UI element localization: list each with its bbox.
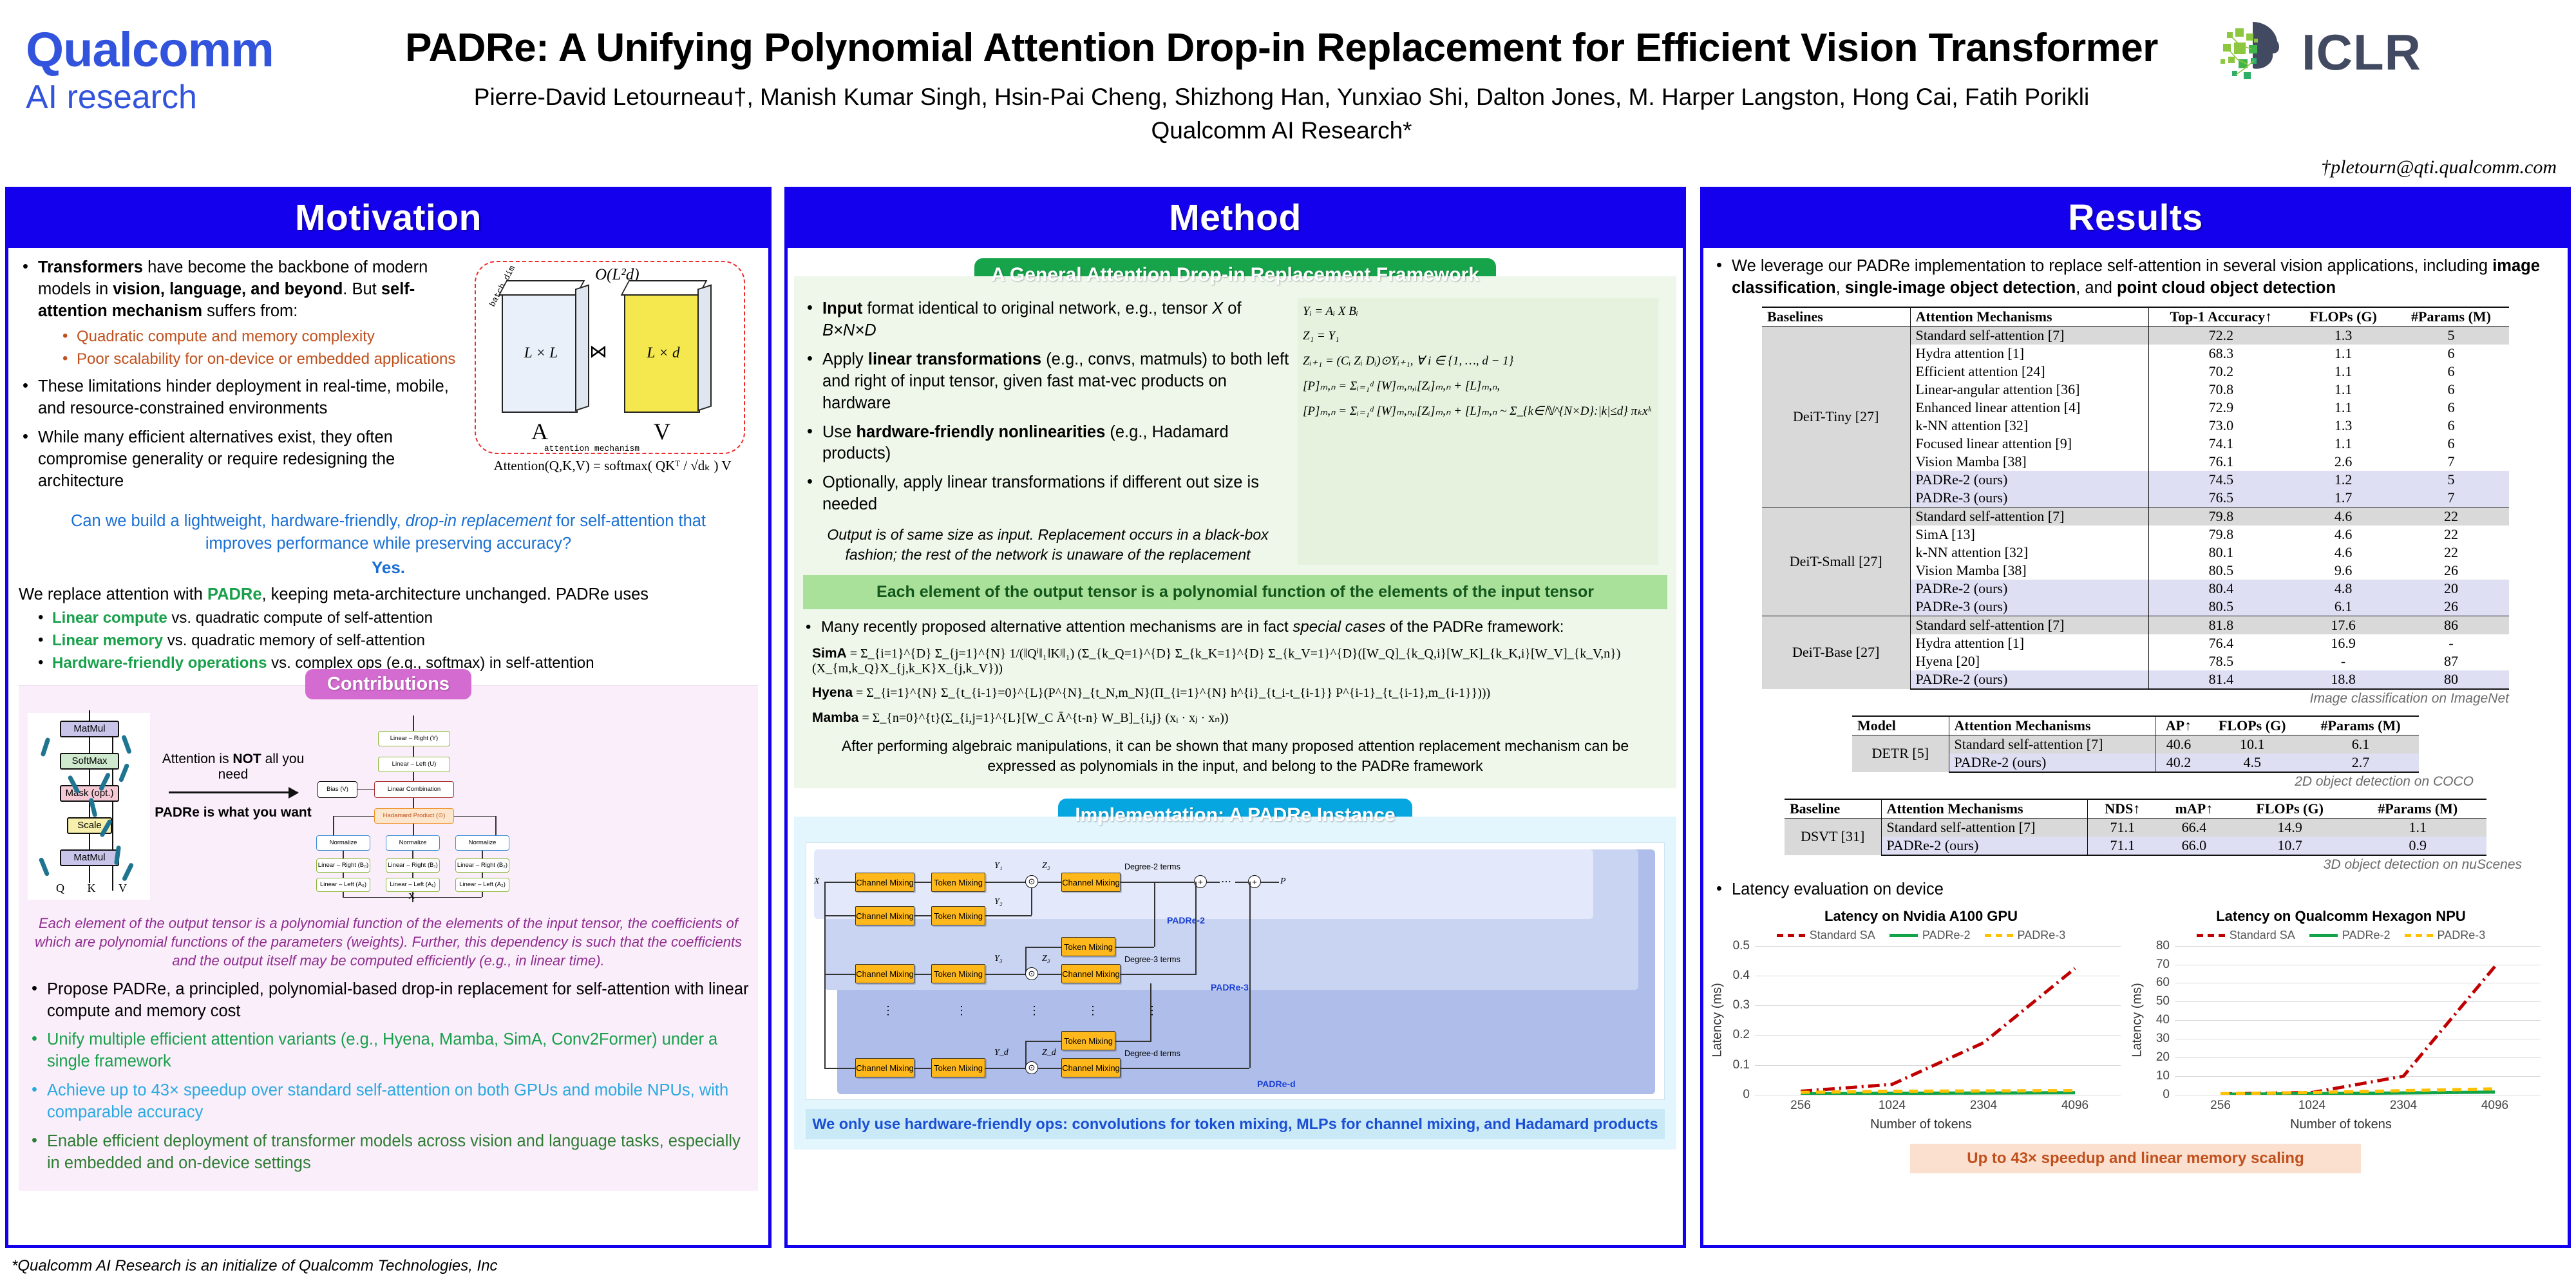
sima-label: SimA <box>812 646 847 661</box>
strike-mark <box>121 734 132 754</box>
y-axis-tick: 0.5 <box>1733 939 1750 953</box>
vertical-ellipsis: ⋮ <box>1087 1004 1099 1018</box>
chart-a100-legend: Standard SA PADRe-2 PADRe-3 <box>1712 929 2130 942</box>
list-item: Poor scalability for on-device or embedd… <box>60 349 469 369</box>
normalize-block-1: Normalize <box>316 835 370 851</box>
strike-mark <box>122 862 134 882</box>
chart-series-layer <box>1755 946 2121 1095</box>
diagram-input-label: X <box>814 876 820 887</box>
channel-mixing-block-2: Channel Mixing <box>1061 873 1121 892</box>
latency-charts: Latency on Nvidia A100 GPU Standard SA P… <box>1712 908 2559 1132</box>
vertical-ellipsis: ⋮ <box>882 1004 894 1018</box>
y-axis-tick: 40 <box>2156 1013 2170 1027</box>
gridline <box>2175 1095 2541 1095</box>
transition-arrow-icon <box>169 791 298 793</box>
token-mixing-block-3: Token Mixing <box>1061 937 1115 956</box>
ellipsis-label: ⋯ <box>1221 875 1231 888</box>
implementation-panel: X Channel Mixing Token Mixing Y₁ ⊙ Z₂ Ch… <box>794 817 1676 1150</box>
padre-2-label: PADRe-2 <box>1167 915 1205 925</box>
degree-d-label: Degree-d terms <box>1124 1049 1180 1058</box>
y-axis-tick: 0.4 <box>1733 969 1750 983</box>
column-method: Method A General Attention Drop-in Repla… <box>784 187 1686 1248</box>
table-header-row: Baselines Attention Mechanisms Top-1 Acc… <box>1762 307 2509 327</box>
title-block: PADRe: A Unifying Polynomial Attention D… <box>386 26 2177 144</box>
replace-intro: We replace attention with PADRe, keeping… <box>19 585 758 604</box>
channel-mixing-block-7: Channel Mixing <box>1061 1058 1121 1077</box>
token-mixing-block-1: Token Mixing <box>931 873 985 892</box>
poster-root: Qualcomm AI research PADRe: A Unifying P… <box>0 0 2576 1288</box>
th-ap: AP↑ <box>2155 716 2202 735</box>
list-item: Transformers have become the backbone of… <box>19 257 469 369</box>
hyena-formula-row: Hyena = Σ_{i=1}^{N} Σ_{t_{i-1}=0}^{L}(P^… <box>812 685 1667 701</box>
linear-left-a0-block: Linear – Left (A₀) <box>316 878 370 892</box>
detr-table-caption: 2D object detection on COCO <box>1797 774 2474 790</box>
mamba-label: Mamba <box>812 710 858 725</box>
channel-mixing-block-6: Channel Mixing <box>855 1058 914 1077</box>
framework-panel: Input format identical to original netwo… <box>794 276 1676 788</box>
baseline-deit-base: DeiT-Base [27] <box>1762 616 1910 689</box>
token-mixing-block-2: Token Mixing <box>931 906 985 925</box>
legend-swatch-standard-sa <box>1777 934 1805 937</box>
list-item: We leverage our PADRe implementation to … <box>1712 256 2559 299</box>
table-header-row: Model Attention Mechanisms AP↑ FLOPs (G)… <box>1852 716 2419 735</box>
matrix-a-cube: L × L <box>502 293 578 413</box>
legend-item-padre2: PADRe-2 <box>1889 929 1971 942</box>
chart-a100-ylabel: Latency (ms) <box>1710 983 1725 1057</box>
v-input-label: V <box>118 882 127 895</box>
chart-a100: Latency on Nvidia A100 GPU Standard SA P… <box>1712 908 2130 1132</box>
channel-mixing-block-5: Channel Mixing <box>1061 964 1121 983</box>
y-axis-tick: 20 <box>2156 1050 2170 1065</box>
chart-a100-title: Latency on Nvidia A100 GPU <box>1712 908 2130 925</box>
black-box-note: Output is of same size as input. Replace… <box>816 525 1280 565</box>
chart-hexagon-legend: Standard SA PADRe-2 PADRe-3 <box>2132 929 2550 942</box>
th-params: #Params (M) <box>2393 307 2509 327</box>
contribution-bullets: Propose PADRe, a principled, polynomial-… <box>28 979 749 1175</box>
token-mixing-block-5: Token Mixing <box>1061 1031 1115 1050</box>
equation-zi: Zᵢ₊₁ = (Cᵢ Zᵢ Dᵢ)⊙Yᵢ₊₁, ∀ i ∈ {1, …, d −… <box>1303 354 1653 368</box>
legend-item-padre3: PADRe-3 <box>2405 929 2486 942</box>
matrix-a-dims: L × L <box>503 345 579 361</box>
chart-hexagon-xlabel: Number of tokens <box>2132 1117 2550 1132</box>
method-heading: Method <box>788 190 1683 248</box>
attention-not-needed-text: Attention is NOT all you need <box>153 752 314 782</box>
y-axis-tick: 0 <box>2163 1088 2170 1102</box>
y-axis-tick: 0.1 <box>1733 1058 1750 1072</box>
padre-property-list: Linear compute vs. quadratic compute of … <box>35 608 758 674</box>
bias-v-block: Bias (V) <box>317 781 357 798</box>
research-question-emphasis: drop-in replacement <box>406 512 552 530</box>
table-header-row: Baseline Attention Mechanisms NDS↑ mAP↑ … <box>1785 799 2486 819</box>
table-row: DeiT-Base [27] Standard self-attention [… <box>1762 616 2509 634</box>
baseline-detr: DETR [5] <box>1852 735 1949 772</box>
attention-equation: Attention(Q,K,V) = softmax( QKᵀ / √dₖ ) … <box>476 458 749 474</box>
degree-3-label: Degree-3 terms <box>1124 955 1180 964</box>
list-item: While many efficient alternatives exist,… <box>19 427 469 493</box>
legend-item-standard-sa: Standard SA <box>1777 929 1875 942</box>
table-row: DSVT [31] Standard self-attention [7] 71… <box>1785 818 2486 837</box>
th-flops: FLOPs (G) <box>2202 716 2302 735</box>
qualcomm-sublabel: AI research <box>26 79 386 117</box>
method-body: A General Attention Drop-in Replacement … <box>788 248 1683 1155</box>
equation-y: Yᵢ = Aᵢ X Bᵢ <box>1303 305 1653 319</box>
normalize-block-3: Normalize <box>455 835 509 851</box>
legend-item-padre3: PADRe-3 <box>1985 929 2066 942</box>
motivation-sub-bullets: Quadratic compute and memory complexity … <box>60 327 469 369</box>
padre-wanted-text: PADRe is what you want <box>153 805 314 820</box>
softmax-node: SoftMax <box>60 753 119 770</box>
dsvt-results-table: Baseline Attention Mechanisms NDS↑ mAP↑ … <box>1785 799 2486 856</box>
y-axis-tick: 60 <box>2156 976 2170 990</box>
list-item: Use hardware-friendly nonlinearities (e.… <box>803 422 1293 466</box>
equation-p2: [P]ₘ,ₙ = Σᵢ₌₁ᵈ [W]ₘ,ₙ,ᵢ[Zᵢ]ₘ,ₙ + [L]ₘ,ₙ … <box>1303 404 1653 419</box>
baseline-deit-tiny: DeiT-Tiny [27] <box>1762 326 1910 507</box>
polynomial-callout: Each element of the output tensor is a p… <box>803 575 1667 609</box>
th-baseline: Baseline <box>1785 799 1881 819</box>
table-row: DeiT-Small [27] Standard self-attention … <box>1762 507 2509 526</box>
padre-instance-diagram: X Channel Mixing Token Mixing Y₁ ⊙ Z₂ Ch… <box>806 842 1665 1100</box>
polynomial-note: Each element of the output tensor is a p… <box>34 914 743 970</box>
equation-p1: [P]ₘ,ₙ = Σᵢ₌₁ᵈ [W]ₘ,ₙ,ᵢ[Zᵢ]ₘ,ₙ + [L]ₘ,ₙ, <box>1303 379 1653 393</box>
iclr-brain-icon <box>2215 17 2293 88</box>
motivation-bullets: Transformers have become the backbone of… <box>19 257 469 493</box>
y-axis-tick: 80 <box>2156 939 2170 953</box>
poster-header: Qualcomm AI research PADRe: A Unifying P… <box>0 0 2576 179</box>
attention-figure-frame: O(L²d) batch dim L × L ⋈ L × d A V atten… <box>475 261 745 454</box>
linear-left-u-block: Linear – Left (U) <box>378 757 450 772</box>
legend-swatch-padre3 <box>2405 934 2433 937</box>
matmul-bottom-node: MatMul <box>60 849 119 866</box>
list-item: These limitations hinder deployment in r… <box>19 376 469 420</box>
chart-a100-plot: Latency (ms) 00.10.20.30.40.525610242304… <box>1755 946 2121 1095</box>
x-axis-tick: 4096 <box>2061 1099 2088 1113</box>
chart-a100-xlabel: Number of tokens <box>1712 1117 2130 1132</box>
chart-hexagon-title: Latency on Qualcomm Hexagon NPU <box>2132 908 2550 925</box>
speedup-callout: Up to 43× speedup and linear memory scal… <box>1910 1144 2361 1173</box>
hadamard-product-block: Hadamard Product (⊙) <box>374 808 454 824</box>
list-item: Quadratic compute and memory complexity <box>60 327 469 346</box>
self-attention-diagram: MatMul SoftMax Mask (opt.) Scale MatMul … <box>28 713 150 900</box>
chart-hexagon-ylabel: Latency (ms) <box>2130 983 2145 1057</box>
strike-mark <box>39 857 50 876</box>
hyena-formula: = Σ_{i=1}^{N} Σ_{t_{i-1}=0}^{L}(P^{N}_{t… <box>856 686 1490 700</box>
chart-series-layer <box>2175 946 2541 1095</box>
y-axis-tick: 30 <box>2156 1032 2170 1046</box>
strike-mark <box>118 762 130 782</box>
baseline-deit-small: DeiT-Small [27] <box>1762 507 1910 616</box>
zd-label: Z_d <box>1042 1048 1056 1058</box>
x-axis-tick: 2304 <box>2390 1099 2417 1113</box>
matmul-top-node: MatMul <box>60 721 119 737</box>
legend-swatch-padre3 <box>1985 934 2013 937</box>
results-intro-list: We leverage our PADRe implementation to … <box>1712 256 2559 299</box>
vertical-ellipsis: ⋮ <box>956 1004 967 1018</box>
qkv-inputs: Q K V <box>56 882 127 895</box>
legend-swatch-standard-sa <box>2197 934 2225 937</box>
contributions-badge: Contributions <box>305 669 471 699</box>
padre-d-label: PADRe-d <box>1257 1079 1296 1089</box>
motivation-body: Transformers have become the backbone of… <box>8 248 768 1200</box>
column-results: Results We leverage our PADRe implementa… <box>1700 187 2571 1248</box>
linear-left-a2-block: Linear – Left (A₂) <box>455 878 509 892</box>
y-axis-tick: 0.3 <box>1733 998 1750 1012</box>
poster-footnote: *Qualcomm AI Research is an initialize o… <box>12 1257 498 1275</box>
th-map: mAP↑ <box>2157 799 2231 819</box>
linear-combination-block: Linear Combination <box>374 781 454 798</box>
legend-item-padre2: PADRe-2 <box>2309 929 2391 942</box>
list-item: Apply linear transformations (e.g., conv… <box>803 349 1293 415</box>
list-item: Linear memory vs. quadratic memory of se… <box>35 630 758 650</box>
hardware-friendly-callout: We only use hardware-friendly ops: convo… <box>806 1109 1665 1139</box>
series-standard-sa <box>1801 968 2075 1091</box>
special-cases-line: Many recently proposed alternative atten… <box>803 618 1667 636</box>
mamba-formula-row: Mamba = Σ_{n=0}^{t}(Σ_{i,j=1}^{L}[W_C Ā^… <box>812 710 1667 726</box>
y-axis-tick: 0.2 <box>1733 1028 1750 1042</box>
motivation-heading: Motivation <box>8 190 768 248</box>
series-padre-2 <box>2221 1092 2495 1094</box>
series-padre-2 <box>1801 1093 2075 1094</box>
iclr-wordmark: ICLR <box>2302 23 2421 82</box>
x-axis-tick: 2304 <box>1970 1099 1997 1113</box>
qualcomm-logo: Qualcomm AI research <box>26 26 386 117</box>
vertical-ellipsis: ⋮ <box>1028 1004 1040 1018</box>
chart-hexagon-plot: Latency (ms) 010203040506070802561024230… <box>2175 946 2541 1095</box>
contributions-section: Contributions MatMul SoftMax Mask (opt.) <box>19 685 758 1191</box>
x-axis-tick: 1024 <box>2298 1099 2325 1113</box>
y1-label: Y₁ <box>994 861 1003 871</box>
gridline <box>1755 1095 2121 1095</box>
imagenet-table-caption: Image classification on ImageNet <box>1762 691 2509 706</box>
baseline-dsvt: DSVT [31] <box>1785 818 1881 855</box>
author-list: Pierre-David Letourneau†, Manish Kumar S… <box>386 82 2177 113</box>
multiply-icon: ⋈ <box>589 341 607 362</box>
algebraic-note: After performing algebraic manipulations… <box>815 736 1656 776</box>
token-mixing-block-4: Token Mixing <box>931 964 985 983</box>
th-params: #Params (M) <box>2349 799 2486 819</box>
results-heading: Results <box>1703 190 2568 248</box>
q-input-label: Q <box>56 882 64 895</box>
list-item: Enable efficient deployment of transform… <box>28 1131 749 1175</box>
list-item: Achieve up to 43× speedup over standard … <box>28 1080 749 1124</box>
th-attention-mechanisms: Attention Mechanisms <box>1949 716 2155 735</box>
equation-z1: Z₁ = Y₁ <box>1303 329 1653 343</box>
k-input-label: K <box>88 882 96 895</box>
comparison-captions: Attention is NOT all you need PADRe is w… <box>153 713 314 826</box>
list-item: Optionally, apply linear transformations… <box>803 472 1293 516</box>
th-top1: Top-1 Accuracy↑ <box>2148 307 2293 327</box>
list-item: Propose PADRe, a principled, polynomial-… <box>28 979 749 1023</box>
diagram-output-label: P <box>1280 876 1286 887</box>
latency-heading-list: Latency evaluation on device <box>1712 879 2559 901</box>
legend-item-standard-sa: Standard SA <box>2197 929 2295 942</box>
padre-block-diagram: Linear – Right (Y) Linear – Left (U) Bia… <box>316 713 749 904</box>
th-params: #Params (M) <box>2302 716 2419 735</box>
simа-formula-row: SimA = Σ_{i=1}^{D} Σ_{j=1}^{N} 1/(‖Qⁱ‖₁‖… <box>812 645 1667 676</box>
imagenet-results-table: Baselines Attention Mechanisms Top-1 Acc… <box>1762 307 2509 690</box>
affiliation: Qualcomm AI Research* <box>386 117 2177 144</box>
legend-swatch-padre2 <box>1889 934 1918 937</box>
th-nds: NDS↑ <box>2087 799 2157 819</box>
th-flops: FLOPs (G) <box>2231 799 2349 819</box>
table-row: DeiT-Tiny [27] Standard self-attention [… <box>1762 326 2509 345</box>
padre-input-label: X <box>408 892 415 902</box>
th-attention-mechanisms: Attention Mechanisms <box>1910 307 2148 327</box>
th-attention-mechanisms: Attention Mechanisms <box>1881 799 2087 819</box>
list-item: Unify multiple efficient attention varia… <box>28 1029 749 1073</box>
dsvt-table-caption: 3D object detection on nuScenes <box>1749 857 2522 873</box>
y-axis-tick: 50 <box>2156 994 2170 1009</box>
results-body: We leverage our PADRe implementation to … <box>1703 248 2568 1181</box>
x-axis-tick: 4096 <box>2481 1099 2508 1113</box>
z3-label: Z₃ <box>1042 954 1050 964</box>
normalize-block-2: Normalize <box>386 835 440 851</box>
th-flops: FLOPs (G) <box>2293 307 2393 327</box>
linear-left-a1-block: Linear – Left (A₁) <box>386 878 440 892</box>
detr-results-table: Model Attention Mechanisms AP↑ FLOPs (G)… <box>1852 715 2419 773</box>
yd-label: Y_d <box>994 1048 1009 1058</box>
architecture-comparison-figure: MatMul SoftMax Mask (opt.) Scale MatMul … <box>28 713 749 905</box>
padre-3-label: PADRe-3 <box>1211 982 1249 992</box>
th-baselines: Baselines <box>1762 307 1910 327</box>
linear-right-b1-block: Linear – Right (B₁) <box>386 858 440 873</box>
mamba-formula: = Σ_{n=0}^{t}(Σ_{i,j=1}^{L}[W_C Ā^{t-n} … <box>862 711 1228 725</box>
degree-2-label: Degree-2 terms <box>1124 862 1180 871</box>
strike-mark <box>114 845 121 865</box>
linear-right-b0-block: Linear – Right (B₀) <box>316 858 370 873</box>
matrix-v-cube: L × d <box>624 293 700 413</box>
table-row: DETR [5] Standard self-attention [7] 40.… <box>1852 735 2419 753</box>
matrix-v-dims: L × d <box>625 345 701 361</box>
th-model: Model <box>1852 716 1949 735</box>
series-standard-sa <box>2221 967 2495 1094</box>
channel-mixing-block-4: Channel Mixing <box>855 964 914 983</box>
linear-right-y-block: Linear – Right (Y) <box>378 731 450 746</box>
iclr-logo: ICLR <box>2215 14 2563 90</box>
vertical-ellipsis: ⋮ <box>1146 1004 1158 1018</box>
token-mixing-block-6: Token Mixing <box>931 1058 985 1077</box>
sima-formula: = Σ_{i=1}^{D} Σ_{j=1}^{N} 1/(‖Qⁱ‖₁‖Kʲ‖₁)… <box>812 647 1620 676</box>
matrix-a-label: A <box>502 418 578 445</box>
linear-right-b2-block: Linear – Right (B₂) <box>455 858 509 873</box>
y3-label: Y₃ <box>994 954 1003 964</box>
y-axis-tick: 70 <box>2156 958 2170 972</box>
attention-mechanism-caption: attention mechanism <box>515 444 669 453</box>
table-row: PADRe-2 (ours) 71.1 66.0 10.7 0.9 <box>1785 837 2486 855</box>
research-question: Can we build a lightweight, hardware-fri… <box>41 510 736 555</box>
y2-label: Y₂ <box>994 897 1003 907</box>
y-axis-tick: 10 <box>2156 1069 2170 1083</box>
matrix-v-label: V <box>624 418 700 445</box>
qualcomm-wordmark: Qualcomm <box>26 26 386 75</box>
column-motivation: Motivation Transformers have become the … <box>5 187 772 1248</box>
list-item: Latency evaluation on device <box>1712 879 2559 901</box>
research-answer: Yes. <box>19 558 758 578</box>
channel-mixing-block-1: Channel Mixing <box>855 873 914 892</box>
x-axis-tick: 256 <box>2210 1099 2231 1113</box>
method-bullets: Input format identical to original netwo… <box>803 298 1293 516</box>
y-axis-tick: 0 <box>1743 1088 1750 1102</box>
x-axis-tick: 1024 <box>1879 1099 1906 1113</box>
z2-label: Z₂ <box>1042 861 1050 871</box>
list-item: Linear compute vs. quadratic compute of … <box>35 608 758 628</box>
legend-swatch-padre2 <box>2309 934 2338 937</box>
list-item: Input format identical to original netwo… <box>803 298 1293 342</box>
strike-mark <box>41 737 51 757</box>
x-axis-tick: 256 <box>1790 1099 1811 1113</box>
attention-complexity-figure: O(L²d) batch dim L × L ⋈ L × d A V atten… <box>475 257 752 500</box>
method-equations: Yᵢ = Aᵢ X Bᵢ Z₁ = Y₁ Zᵢ₊₁ = (Cᵢ Zᵢ Dᵢ)⊙Y… <box>1298 298 1658 565</box>
contact-email: †pletourn@qti.qualcomm.com <box>2321 156 2557 178</box>
page-title: PADRe: A Unifying Polynomial Attention D… <box>386 26 2177 70</box>
chart-hexagon: Latency on Qualcomm Hexagon NPU Standard… <box>2132 908 2550 1132</box>
hyena-label: Hyena <box>812 685 853 700</box>
channel-mixing-block-3: Channel Mixing <box>855 906 914 925</box>
